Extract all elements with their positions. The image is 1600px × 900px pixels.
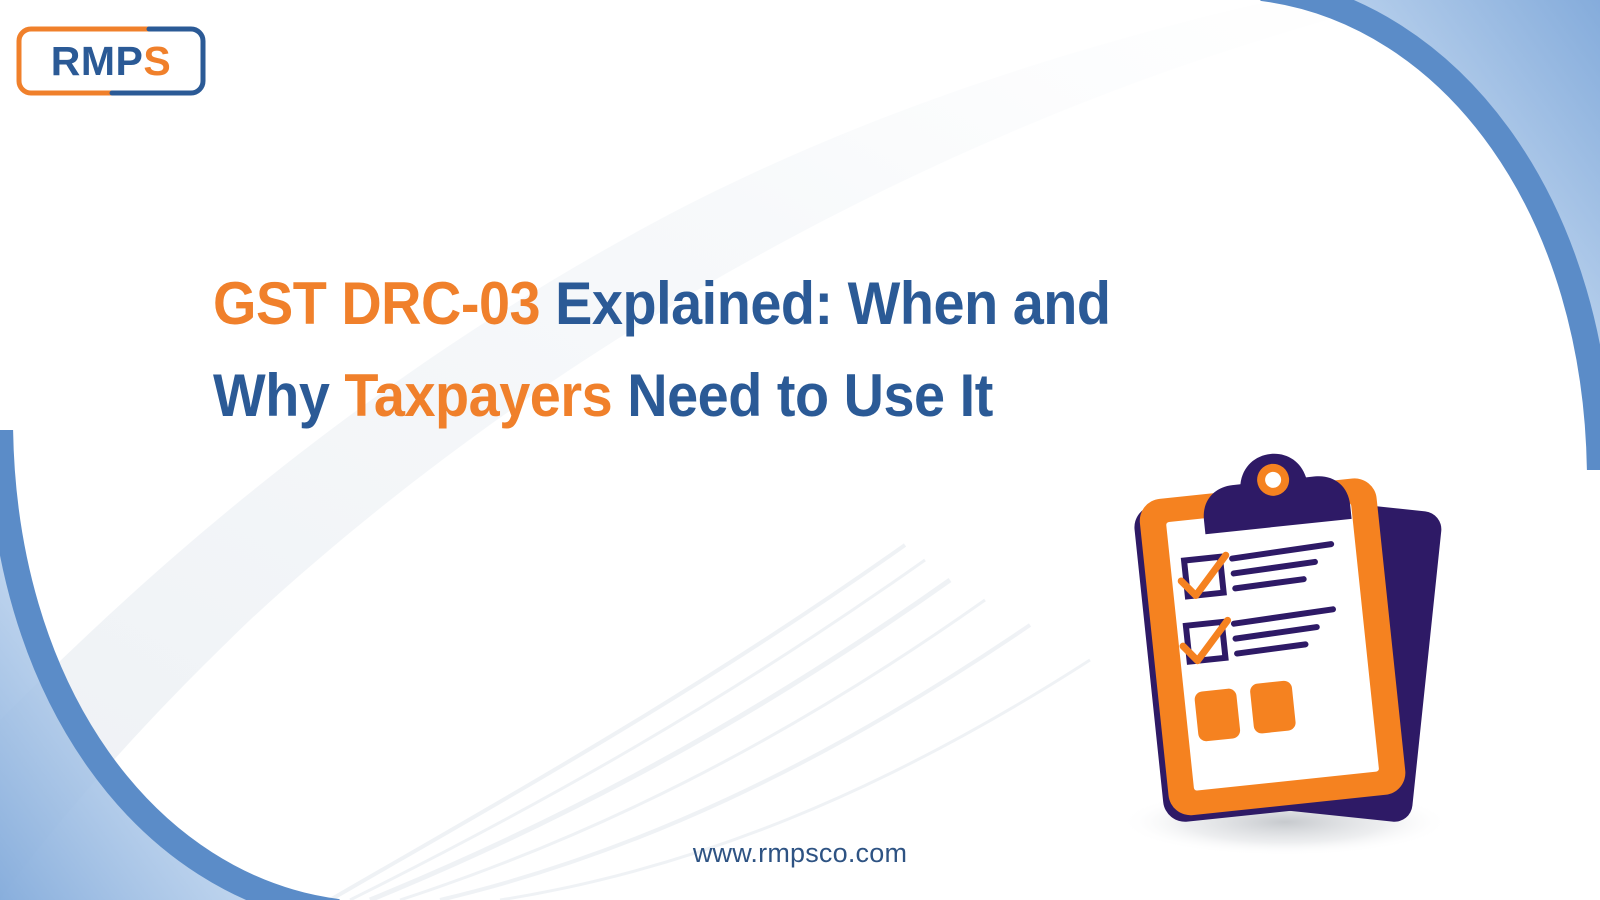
page-title: GST DRC-03 Explained: When and Why Taxpa…	[213, 258, 1233, 442]
title-text-explained: Explained: When and	[555, 270, 1110, 337]
orange-block-2	[1249, 680, 1296, 734]
clipboard-checklist-illustration	[1090, 450, 1490, 860]
logo-text-rmp: RMP	[51, 41, 144, 82]
footer-website-url[interactable]: www.rmpsco.com	[0, 838, 1600, 869]
page-title-line-1: GST DRC-03 Explained: When and	[213, 258, 1162, 350]
title-text-why: Why	[213, 362, 329, 429]
logo-wordmark: RMPS	[16, 26, 206, 96]
logo-text-s: S	[143, 41, 171, 82]
slide-canvas: RMPS GST DRC-03 Explained: When and Why …	[0, 0, 1600, 900]
corner-arc-top-right	[1255, 0, 1600, 482]
title-text-need-to-use-it: Need to Use It	[627, 362, 993, 429]
brand-logo[interactable]: RMPS	[16, 26, 206, 96]
corner-arc-bottom-left	[0, 418, 338, 900]
title-highlight-drc03: GST DRC-03	[213, 270, 540, 337]
orange-block-1	[1194, 688, 1241, 742]
title-highlight-taxpayers: Taxpayers	[344, 362, 612, 429]
page-title-line-2: Why Taxpayers Need to Use It	[213, 350, 1162, 442]
